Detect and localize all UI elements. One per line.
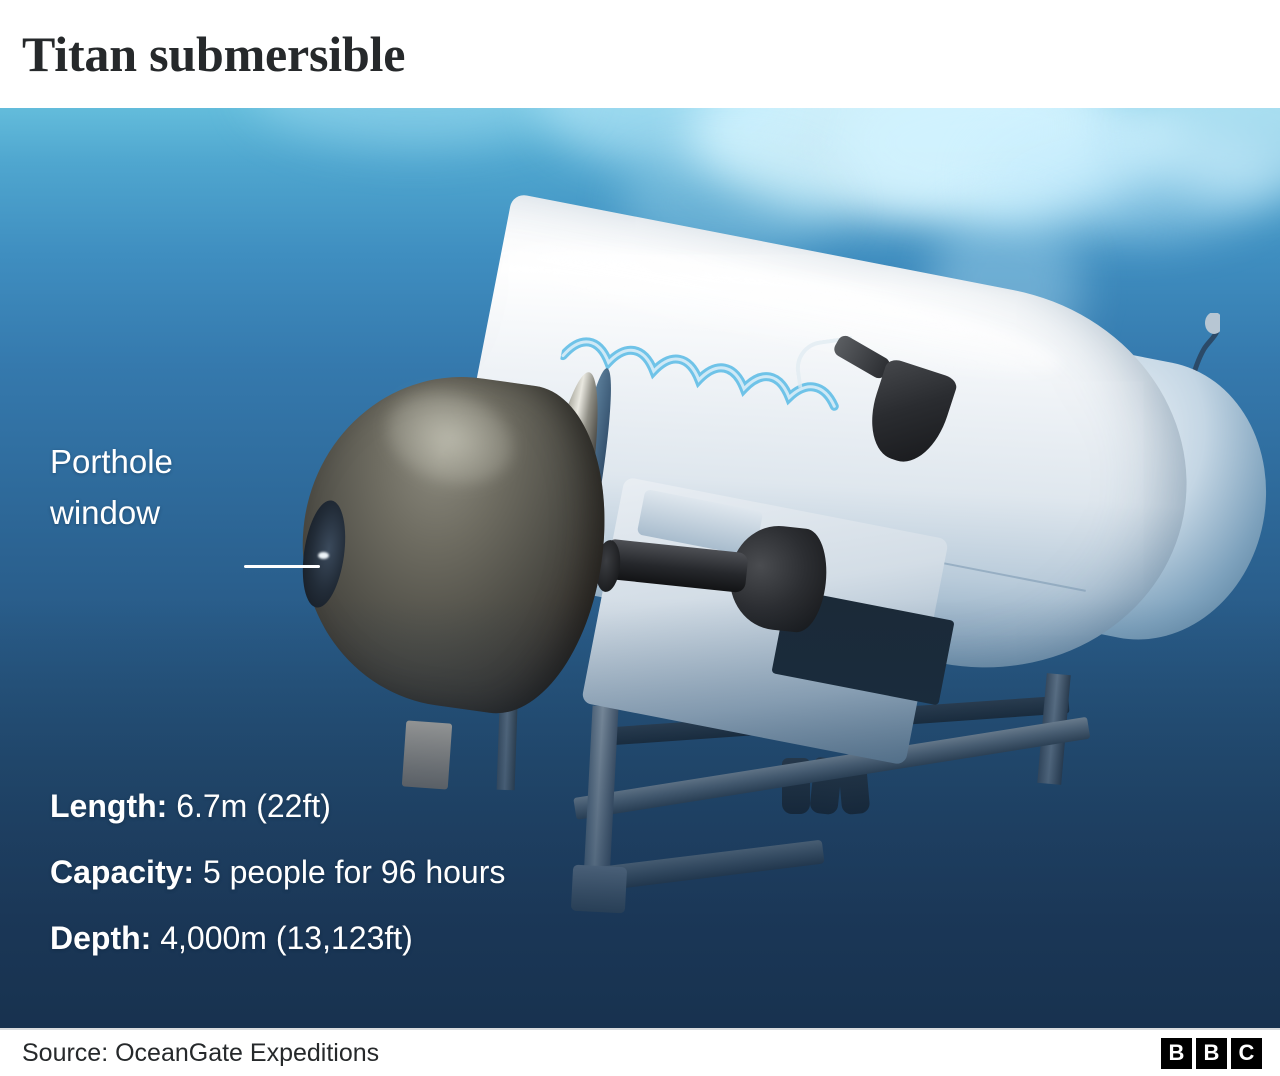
spec-label: Depth: [50, 920, 151, 956]
bbc-logo-letter: B [1196, 1038, 1227, 1069]
bbc-logo: B B C [1161, 1038, 1262, 1069]
page-title: Titan submersible [22, 29, 405, 79]
spec-list: Length: 6.7m (22ft) Capacity: 5 people f… [50, 790, 505, 954]
sled-equipment-box [402, 720, 452, 789]
footer-bar: Source: OceanGate Expeditions B B C [0, 1030, 1280, 1076]
porthole-glint [318, 552, 329, 559]
spec-value: 4,000m (13,123ft) [151, 920, 412, 956]
spec-value: 6.7m (22ft) [167, 788, 331, 824]
porthole-annotation-label: Porthole window [50, 436, 173, 539]
frame-post [583, 705, 618, 881]
frame-foot [571, 865, 627, 914]
spec-label: Capacity: [50, 854, 194, 890]
submersible-photo: Porthole window Length: 6.7m (22ft) Capa… [0, 108, 1280, 1028]
spec-row-depth: Depth: 4,000m (13,123ft) [50, 922, 505, 954]
bbc-logo-letter: C [1231, 1038, 1262, 1069]
bbc-logo-letter: B [1161, 1038, 1192, 1069]
frame-post [497, 708, 518, 791]
spec-row-length: Length: 6.7m (22ft) [50, 790, 505, 822]
source-credit: Source: OceanGate Expeditions [22, 1039, 379, 1068]
annotation-leader-line [244, 565, 320, 568]
spec-label: Length: [50, 788, 167, 824]
header-bar: Titan submersible [0, 0, 1280, 108]
spec-row-capacity: Capacity: 5 people for 96 hours [50, 856, 505, 888]
spec-value: 5 people for 96 hours [194, 854, 505, 890]
